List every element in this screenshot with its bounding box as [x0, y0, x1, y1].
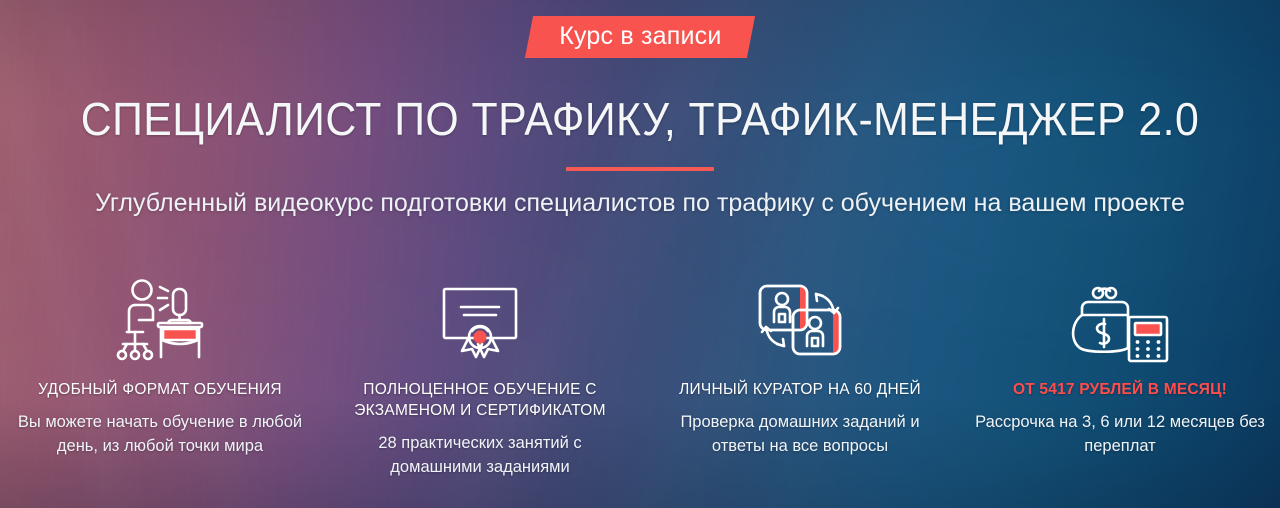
page-subtitle: Углубленный видеокурс подготовки специал…	[65, 186, 1215, 220]
feature-item-format: УДОБНЫЙ ФОРМАТ ОБУЧЕНИЯ Вы можете начать…	[0, 276, 320, 479]
feature-body: Рассрочка на 3, 6 или 12 месяцев без пер…	[972, 410, 1268, 458]
feature-headline-price: ОТ 5417 РУБЛЕЙ В МЕСЯЦ!	[1013, 379, 1227, 400]
course-format-badge-wrap: Курс в записи	[0, 16, 1280, 58]
feature-headline: ЛИЧНЫЙ КУРАТОР НА 60 ДНЕЙ	[679, 379, 921, 400]
feature-body: 28 практических занятий с домашними зада…	[332, 431, 628, 479]
page-title: СПЕЦИАЛИСТ ПО ТРАФИКУ, ТРАФИК-МЕНЕДЖЕР 2…	[45, 92, 1235, 146]
title-divider	[566, 167, 714, 171]
feature-item-curator: ЛИЧНЫЙ КУРАТОР НА 60 ДНЕЙ Проверка домаш…	[640, 276, 960, 479]
hero-content: Курс в записи СПЕЦИАЛИСТ ПО ТРАФИКУ, ТРА…	[0, 0, 1280, 508]
feature-headline: ПОЛНОЦЕННОЕ ОБУЧЕНИЕ С ЭКЗАМЕНОМ И СЕРТИ…	[330, 379, 630, 421]
course-format-badge-label: Курс в записи	[559, 21, 721, 51]
feature-body: Проверка домашних заданий и ответы на вс…	[652, 410, 948, 458]
course-format-badge: Курс в записи	[525, 16, 755, 58]
feature-body: Вы можете начать обучение в любой день, …	[12, 410, 308, 458]
feature-list: УДОБНЫЙ ФОРМАТ ОБУЧЕНИЯ Вы можете начать…	[0, 276, 1280, 479]
certificate-icon	[430, 276, 530, 364]
feature-item-price: ОТ 5417 РУБЛЕЙ В МЕСЯЦ! Рассрочка на 3, …	[960, 276, 1280, 479]
desk-workstation-icon	[105, 276, 215, 364]
feature-item-certificate: ПОЛНОЦЕННОЕ ОБУЧЕНИЕ С ЭКЗАМЕНОМ И СЕРТИ…	[320, 276, 640, 479]
personal-curator-icon	[748, 276, 852, 364]
hero-banner: Курс в записи СПЕЦИАЛИСТ ПО ТРАФИКУ, ТРА…	[0, 0, 1280, 508]
wallet-calculator-icon	[1066, 276, 1174, 364]
feature-headline: УДОБНЫЙ ФОРМАТ ОБУЧЕНИЯ	[38, 379, 282, 400]
